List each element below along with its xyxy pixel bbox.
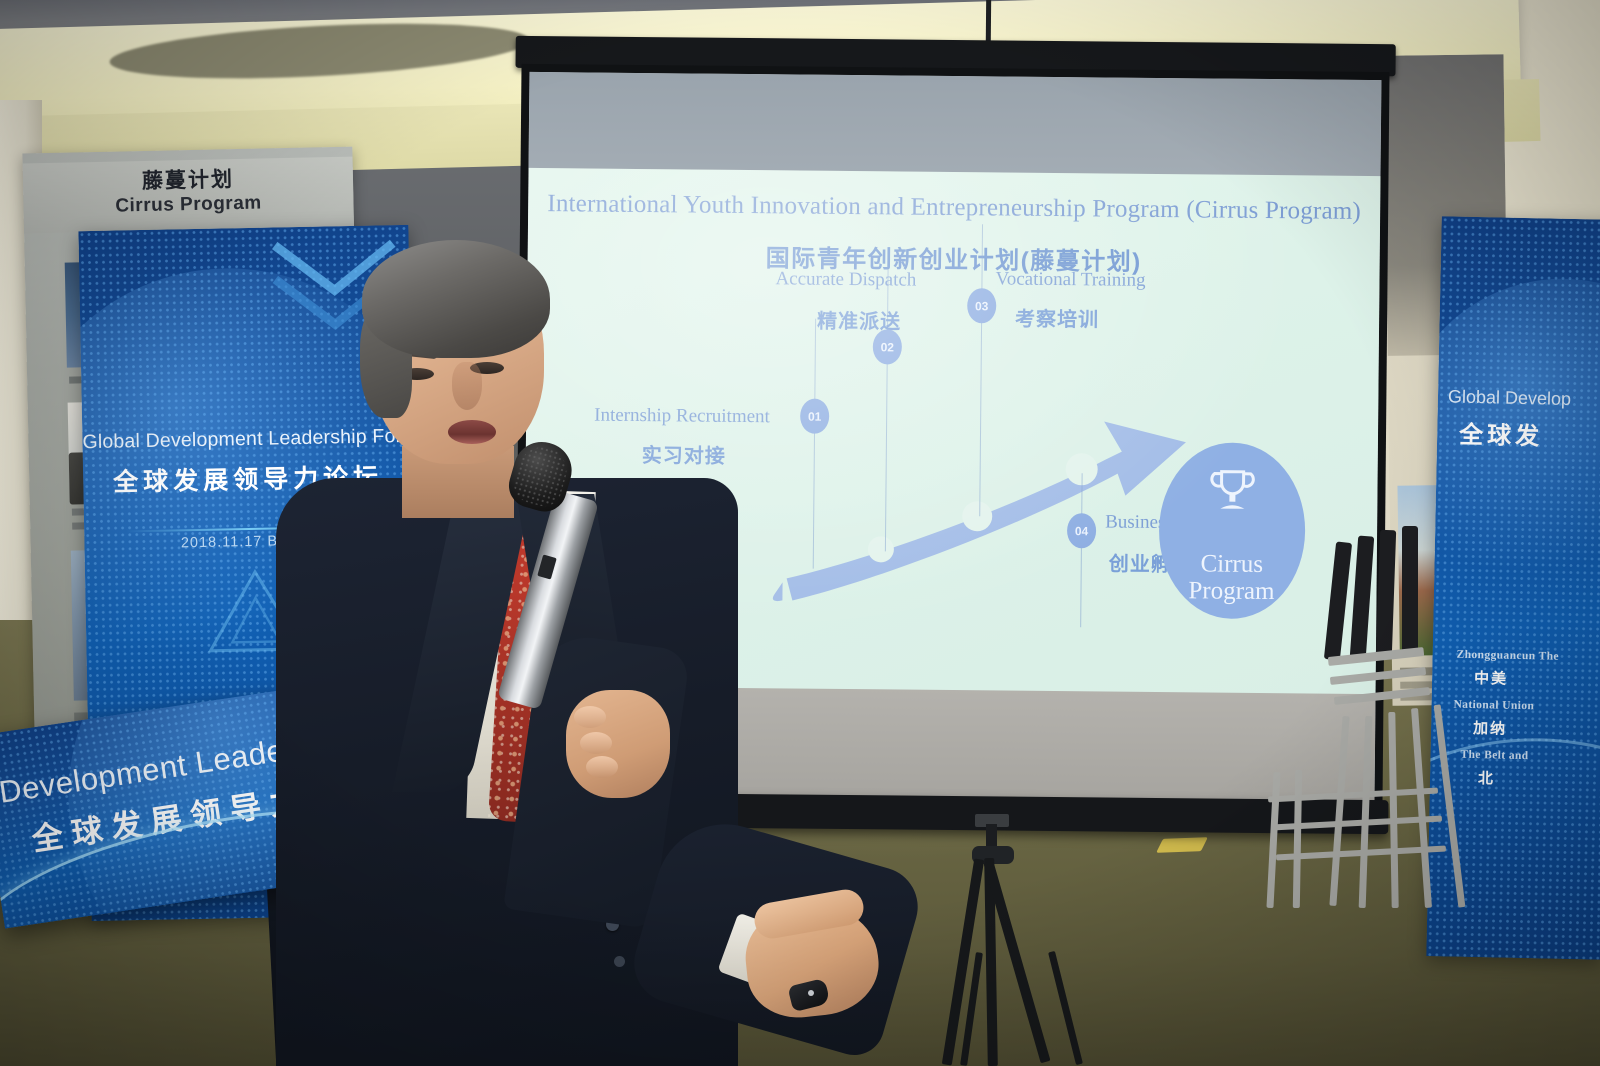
nose [452,362,482,410]
photograph-scene: 藤蔓计划 Cirrus Program [0,0,1600,1066]
presenter [276,240,876,1066]
stacked-chairs [1250,520,1480,910]
mouth [448,420,496,444]
tripod-brace-right [1048,951,1083,1065]
clicker-button[interactable] [808,990,814,996]
hand-gripping-microphone [566,690,670,798]
hair [362,240,550,358]
jacket-button-3 [614,956,625,967]
